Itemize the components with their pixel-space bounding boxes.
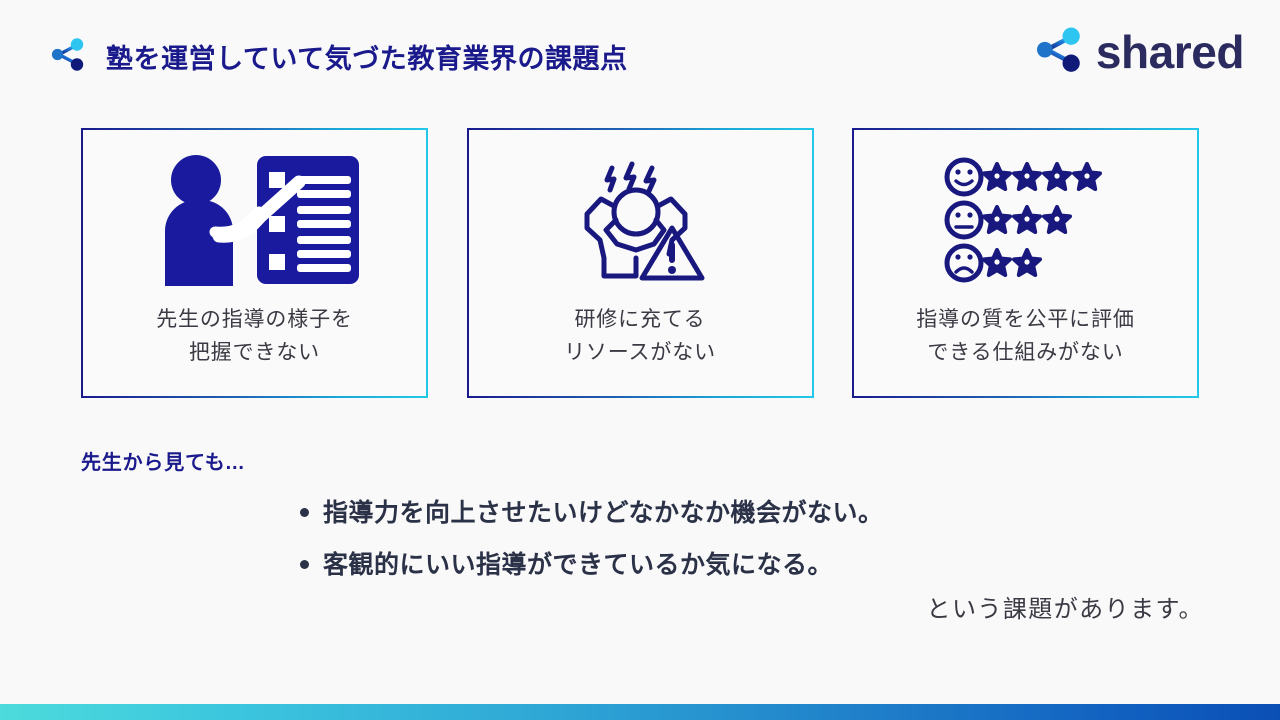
caption-line-1: 研修に充てる bbox=[564, 304, 716, 337]
stressed-person-warning-icon bbox=[574, 150, 706, 290]
bullet-text: 客観的にいい指導ができているか気になる。 bbox=[323, 545, 833, 581]
bullet-text: 指導力を向上させたいけどなかなか機会がない。 bbox=[323, 493, 884, 529]
rating-faces-stars-icon bbox=[942, 150, 1110, 290]
share-nodes-icon bbox=[48, 34, 88, 79]
caption-line-2: リソースがない bbox=[564, 337, 716, 370]
share-nodes-icon bbox=[1032, 22, 1086, 81]
issue-card-2: 研修に充てる リソースがない bbox=[467, 128, 814, 398]
issue-card-caption: 指導の質を公平に評価 できる仕組みがない bbox=[916, 304, 1134, 369]
teacher-perspective-lead: 先生から見ても... bbox=[81, 446, 245, 475]
slide-canvas: 塾を運営していて気づた教育業界の課題点 shared bbox=[0, 0, 1280, 720]
caption-line-2: できる仕組みがない bbox=[916, 337, 1134, 370]
teacher-presentation-icon bbox=[149, 150, 361, 290]
issue-card-list: 先生の指導の様子を 把握できない bbox=[81, 128, 1199, 398]
bullet-dot-icon bbox=[300, 560, 309, 569]
list-item: 指導力を向上させたいけどなかなか機会がない。 bbox=[300, 493, 884, 529]
list-item: 客観的にいい指導ができているか気になる。 bbox=[300, 545, 884, 581]
teacher-issue-bullets: 指導力を向上させたいけどなかなか機会がない。 客観的にいい指導ができているか気に… bbox=[300, 493, 884, 597]
caption-line-1: 指導の質を公平に評価 bbox=[916, 304, 1134, 337]
caption-line-1: 先生の指導の様子を bbox=[156, 304, 353, 337]
bullet-dot-icon bbox=[300, 508, 309, 517]
bottom-accent-bar bbox=[0, 704, 1280, 720]
caption-line-2: 把握できない bbox=[156, 337, 353, 370]
rating-row-sad bbox=[947, 246, 1040, 280]
rating-row-happy bbox=[947, 160, 1100, 194]
issue-card-caption: 研修に充てる リソースがない bbox=[564, 304, 716, 369]
issue-card-3: 指導の質を公平に評価 できる仕組みがない bbox=[852, 128, 1199, 398]
closing-statement: という課題があります。 bbox=[927, 589, 1204, 624]
brand-name: shared bbox=[1096, 29, 1244, 75]
slide-header: 塾を運営していて気づた教育業界の課題点 bbox=[48, 34, 628, 79]
rating-row-neutral bbox=[947, 203, 1070, 237]
page-title: 塾を運営していて気づた教育業界の課題点 bbox=[106, 37, 628, 76]
brand-logo: shared bbox=[1032, 22, 1244, 81]
issue-card-caption: 先生の指導の様子を 把握できない bbox=[156, 304, 353, 369]
issue-card-1: 先生の指導の様子を 把握できない bbox=[81, 128, 428, 398]
